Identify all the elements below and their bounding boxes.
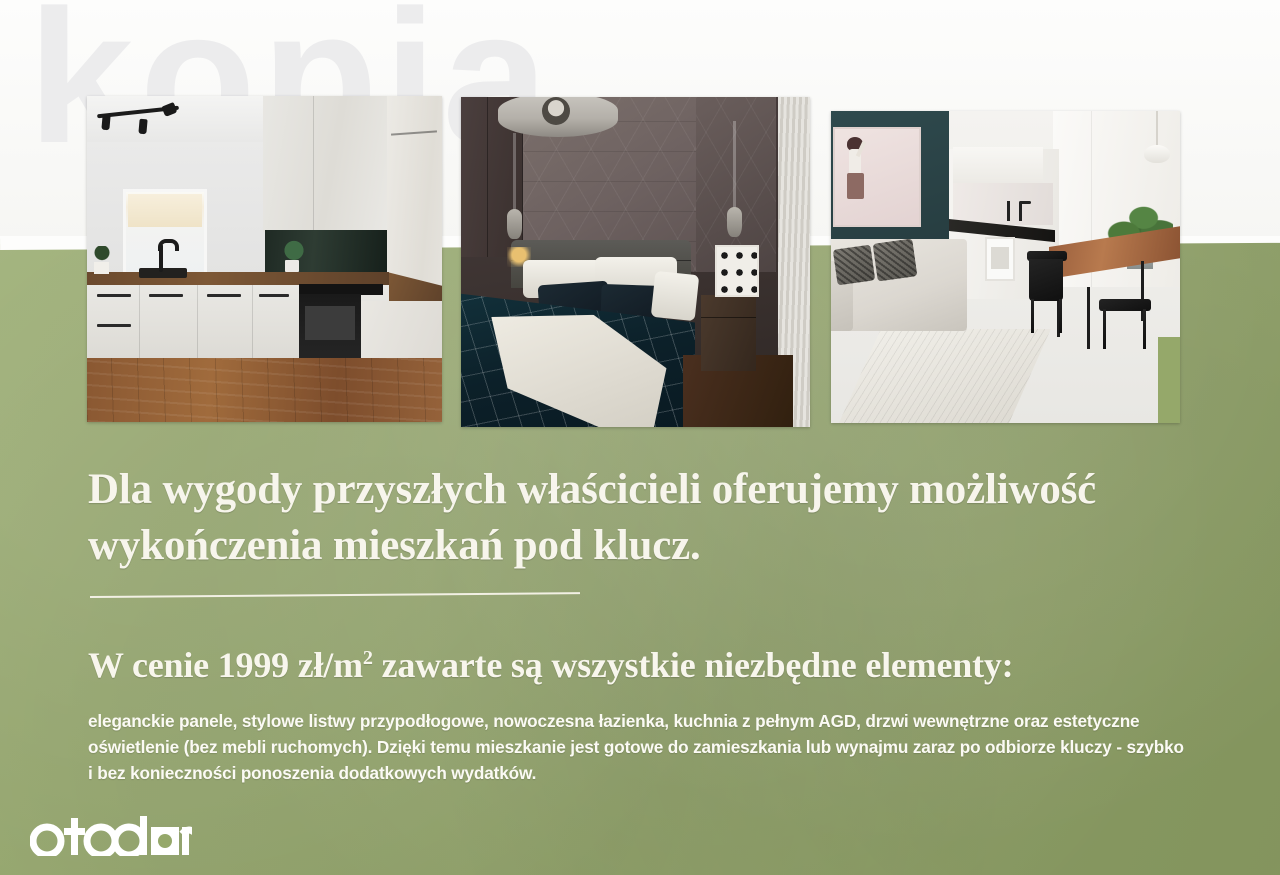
price-heading: W cenie 1999 zł/m2 zawarte są wszystkie … [88,646,1198,686]
body-copy: eleganckie panele, stylowe listwy przypo… [88,708,1192,786]
kitchen-photo [87,96,442,422]
price-heading-before: W cenie [88,645,218,685]
flyer-page: kopia [0,0,1280,875]
price-amount: 1999 [218,645,289,685]
otodom-logo[interactable] [30,815,192,857]
price-unit: zł/m [289,645,363,685]
price-unit-exponent: 2 [363,647,373,669]
price-heading-after: zawarte są wszystkie niezbędne elementy: [373,645,1014,685]
body-copy-text: eleganckie panele, stylowe listwy przypo… [88,708,1192,786]
otodom-wordmark-icon [30,816,192,856]
living-room-photo [831,111,1180,423]
bedroom-photo [461,97,810,427]
headline: Dla wygody przyszłych właścicieli oferuj… [88,462,1193,574]
